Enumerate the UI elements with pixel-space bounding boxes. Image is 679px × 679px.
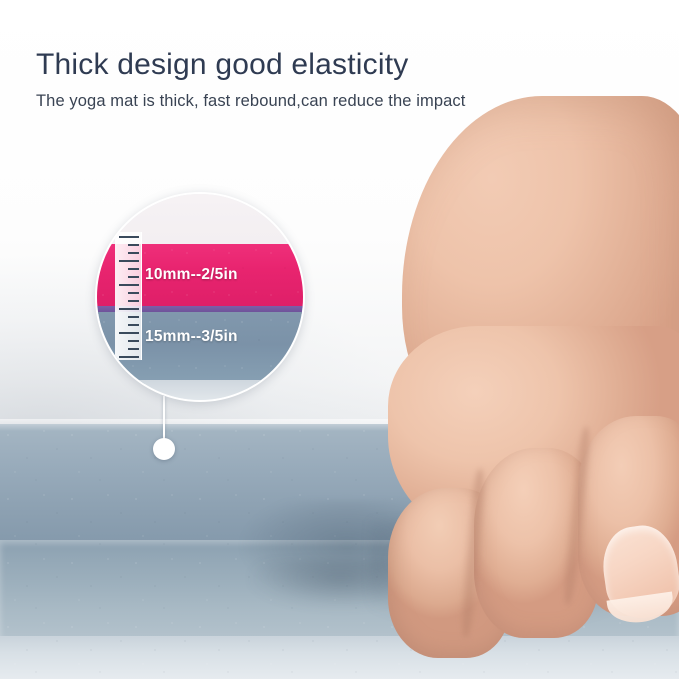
pink-layer-label: 10mm--2/5in: [145, 266, 238, 284]
callout-background-bottom: [97, 380, 303, 402]
callout-leader-line: [163, 396, 165, 444]
thickness-callout: 10mm--2/5in 15mm--3/5in: [95, 192, 305, 402]
ruler-scale: [115, 232, 142, 360]
page-subtitle: The yoga mat is thick, fast rebound,can …: [36, 92, 465, 111]
headline-block: Thick design good elasticity The yoga ma…: [0, 0, 679, 140]
product-infographic: 10mm--2/5in 15mm--3/5in Thick design goo…: [0, 0, 679, 679]
pressing-hand: [382, 96, 679, 616]
blue-layer-label: 15mm--3/5in: [145, 328, 238, 346]
page-title: Thick design good elasticity: [36, 48, 408, 82]
callout-leader-dot: [153, 438, 175, 460]
